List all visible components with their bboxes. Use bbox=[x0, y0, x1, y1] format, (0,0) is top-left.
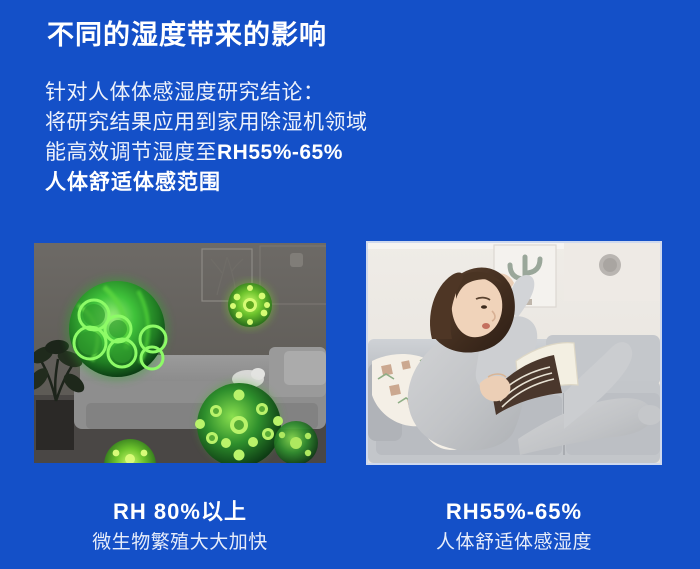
intro-line-3-range: RH55%-65% bbox=[217, 141, 343, 164]
caption-high-humidity: RH 80%以上 微生物繁殖大大加快 bbox=[34, 498, 326, 557]
caption-comfort-humidity: RH55%-65% 人体舒适体感湿度 bbox=[368, 498, 660, 557]
photo-comfort-humidity bbox=[368, 243, 660, 463]
humidity-infographic-slide: 不同的湿度带来的影响 针对人体体感湿度研究结论： 将研究结果应用到家用除湿机领域… bbox=[0, 0, 700, 569]
caption-left-title: RH 80%以上 bbox=[34, 498, 326, 526]
high-humidity-illustration bbox=[34, 243, 326, 463]
intro-line-4: 人体舒适体感范围 bbox=[45, 168, 368, 198]
photo-high-humidity bbox=[34, 243, 326, 463]
intro-line-2: 将研究结果应用到家用除湿机领域 bbox=[45, 108, 368, 138]
page-title: 不同的湿度带来的影响 bbox=[47, 19, 327, 53]
intro-paragraph: 针对人体体感湿度研究结论： 将研究结果应用到家用除湿机领域 能高效调节湿度至RH… bbox=[45, 78, 368, 198]
caption-left-subtitle: 微生物繁殖大大加快 bbox=[34, 529, 326, 557]
caption-right-subtitle: 人体舒适体感湿度 bbox=[368, 529, 660, 557]
intro-line-1: 针对人体体感湿度研究结论： bbox=[45, 78, 368, 108]
intro-line-3: 能高效调节湿度至RH55%-65% bbox=[45, 138, 368, 168]
intro-line-3-prefix: 能高效调节湿度至 bbox=[45, 141, 217, 164]
comfort-humidity-illustration bbox=[368, 243, 660, 463]
caption-right-title: RH55%-65% bbox=[368, 498, 660, 526]
